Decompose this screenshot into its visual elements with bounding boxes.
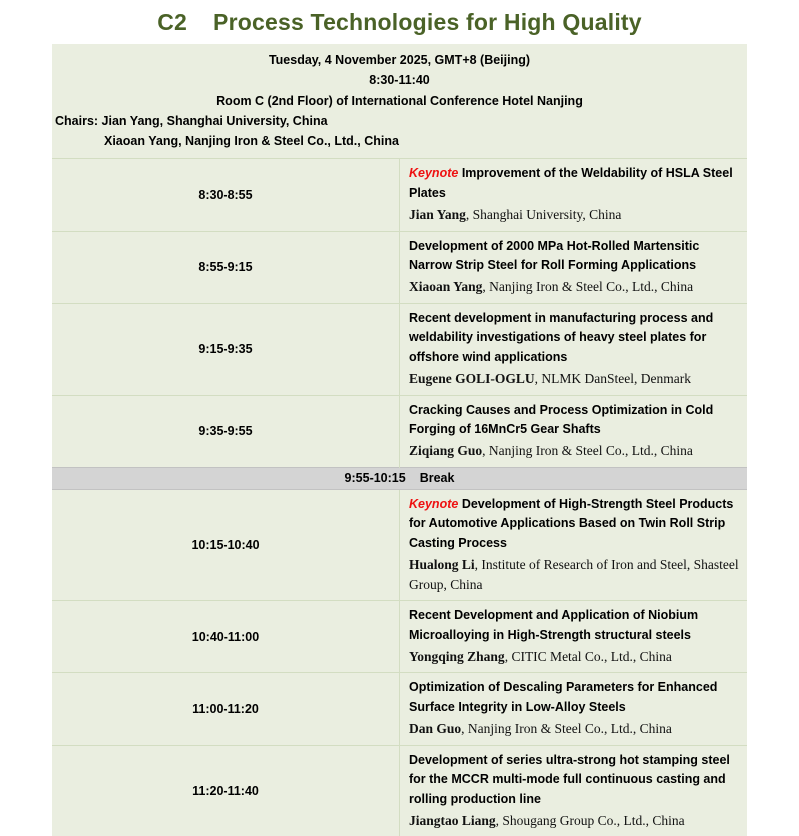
talk-authors: Dan Guo, Nanjing Iron & Steel Co., Ltd.,… bbox=[409, 719, 741, 739]
talk-title: Keynote Development of High-Strength Ste… bbox=[409, 495, 741, 553]
talk-cell: Development of 2000 MPa Hot-Rolled Marte… bbox=[400, 231, 748, 303]
talk-cell: Cracking Causes and Process Optimization… bbox=[400, 395, 748, 467]
talk-time: 8:55-9:15 bbox=[52, 231, 400, 303]
talk-title-text: Development of High-Strength Steel Produ… bbox=[409, 497, 733, 550]
talk-authors: Jiangtao Liang, Shougang Group Co., Ltd.… bbox=[409, 811, 741, 831]
break-time: 9:55-10:15 bbox=[345, 471, 406, 485]
talk-time: 9:15-9:35 bbox=[52, 303, 400, 395]
break-cell: 9:55-10:15Break bbox=[52, 467, 747, 489]
talk-authors: Yongqing Zhang, CITIC Metal Co., Ltd., C… bbox=[409, 647, 741, 667]
talk-time: 10:40-11:00 bbox=[52, 601, 400, 673]
session-chair-primary: Chairs: Jian Yang, Shanghai University, … bbox=[52, 111, 747, 131]
talk-title: Keynote Improvement of the Weldability o… bbox=[409, 164, 741, 203]
talk-title: Development of 2000 MPa Hot-Rolled Marte… bbox=[409, 237, 741, 276]
talk-authors: Hualong Li, Institute of Research of Iro… bbox=[409, 555, 741, 594]
talk-title: Optimization of Descaling Parameters for… bbox=[409, 678, 741, 717]
talk-authors: Ziqiang Guo, Nanjing Iron & Steel Co., L… bbox=[409, 441, 741, 461]
talk-title-text: Development of 2000 MPa Hot-Rolled Marte… bbox=[409, 239, 699, 272]
talk-title: Development of series ultra-strong hot s… bbox=[409, 751, 741, 809]
session-header-row: Tuesday, 4 November 2025, GMT+8 (Beijing… bbox=[52, 44, 747, 159]
schedule-row: 10:40-11:00Recent Development and Applic… bbox=[52, 601, 747, 673]
author-name: Xiaoan Yang bbox=[409, 279, 482, 294]
author-name: Hualong Li bbox=[409, 557, 475, 572]
talk-title-text: Cracking Causes and Process Optimization… bbox=[409, 403, 713, 436]
talk-cell: Keynote Development of High-Strength Ste… bbox=[400, 489, 748, 600]
author-name: Ziqiang Guo bbox=[409, 443, 482, 458]
schedule-row: 10:15-10:40Keynote Development of High-S… bbox=[52, 489, 747, 600]
keynote-badge: Keynote bbox=[409, 166, 458, 180]
talk-time: 11:00-11:20 bbox=[52, 673, 400, 745]
talk-title: Recent Development and Application of Ni… bbox=[409, 606, 741, 645]
author-name: Yongqing Zhang bbox=[409, 649, 505, 664]
author-affiliation: , CITIC Metal Co., Ltd., China bbox=[505, 649, 672, 664]
talk-time: 10:15-10:40 bbox=[52, 489, 400, 600]
schedule-row: 9:15-9:35Recent development in manufactu… bbox=[52, 303, 747, 395]
talk-authors: Jian Yang, Shanghai University, China bbox=[409, 205, 741, 225]
schedule-row: 11:20-11:40Development of series ultra-s… bbox=[52, 745, 747, 836]
author-affiliation: , Nanjing Iron & Steel Co., Ltd., China bbox=[461, 721, 672, 736]
author-affiliation: , Shougang Group Co., Ltd., China bbox=[496, 813, 685, 828]
break-row: 9:55-10:15Break bbox=[52, 467, 747, 489]
talk-cell: Recent Development and Application of Ni… bbox=[400, 601, 748, 673]
talk-authors: Eugene GOLI-OGLU, NLMK DanSteel, Denmark bbox=[409, 369, 741, 389]
author-name: Dan Guo bbox=[409, 721, 461, 736]
schedule-row: 11:00-11:20Optimization of Descaling Par… bbox=[52, 673, 747, 745]
talk-title-text: Improvement of the Weldability of HSLA S… bbox=[409, 166, 733, 199]
talk-title-text: Development of series ultra-strong hot s… bbox=[409, 753, 730, 806]
talk-authors: Xiaoan Yang, Nanjing Iron & Steel Co., L… bbox=[409, 277, 741, 297]
author-name: Jiangtao Liang bbox=[409, 813, 496, 828]
schedule-body: Tuesday, 4 November 2025, GMT+8 (Beijing… bbox=[52, 44, 747, 836]
schedule-row: 8:55-9:15Development of 2000 MPa Hot-Rol… bbox=[52, 231, 747, 303]
author-affiliation: , Shanghai University, China bbox=[466, 207, 621, 222]
talk-cell: Optimization of Descaling Parameters for… bbox=[400, 673, 748, 745]
keynote-badge: Keynote bbox=[409, 497, 458, 511]
author-affiliation: , NLMK DanSteel, Denmark bbox=[535, 371, 691, 386]
talk-title-text: Recent Development and Application of Ni… bbox=[409, 608, 698, 641]
session-code: C2 bbox=[157, 9, 187, 35]
schedule-row: 8:30-8:55Keynote Improvement of the Weld… bbox=[52, 159, 747, 231]
break-label: Break bbox=[420, 471, 455, 485]
talk-time: 8:30-8:55 bbox=[52, 159, 400, 231]
session-header-block: Tuesday, 4 November 2025, GMT+8 (Beijing… bbox=[52, 44, 747, 158]
talk-cell: Recent development in manufacturing proc… bbox=[400, 303, 748, 395]
author-name: Eugene GOLI-OGLU bbox=[409, 371, 535, 386]
page-title: C2Process Technologies for High Quality bbox=[0, 0, 799, 36]
session-schedule-table: Tuesday, 4 November 2025, GMT+8 (Beijing… bbox=[52, 44, 747, 836]
talk-time: 9:35-9:55 bbox=[52, 395, 400, 467]
session-header-cell: Tuesday, 4 November 2025, GMT+8 (Beijing… bbox=[52, 44, 747, 159]
talk-title-text: Recent development in manufacturing proc… bbox=[409, 311, 713, 364]
talk-cell: Development of series ultra-strong hot s… bbox=[400, 745, 748, 836]
session-title-text: Process Technologies for High Quality bbox=[213, 9, 642, 35]
author-affiliation: , Nanjing Iron & Steel Co., Ltd., China bbox=[482, 279, 693, 294]
author-affiliation: , Nanjing Iron & Steel Co., Ltd., China bbox=[482, 443, 693, 458]
schedule-row: 9:35-9:55Cracking Causes and Process Opt… bbox=[52, 395, 747, 467]
talk-title: Recent development in manufacturing proc… bbox=[409, 309, 741, 367]
author-name: Jian Yang bbox=[409, 207, 466, 222]
talk-title: Cracking Causes and Process Optimization… bbox=[409, 401, 741, 440]
talk-cell: Keynote Improvement of the Weldability o… bbox=[400, 159, 748, 231]
talk-title-text: Optimization of Descaling Parameters for… bbox=[409, 680, 717, 713]
session-time-range: 8:30-11:40 bbox=[52, 70, 747, 90]
session-date: Tuesday, 4 November 2025, GMT+8 (Beijing… bbox=[52, 50, 747, 70]
session-chair-secondary: Xiaoan Yang, Nanjing Iron & Steel Co., L… bbox=[52, 131, 747, 151]
talk-time: 11:20-11:40 bbox=[52, 745, 400, 836]
session-venue: Room C (2nd Floor) of International Conf… bbox=[52, 91, 747, 111]
